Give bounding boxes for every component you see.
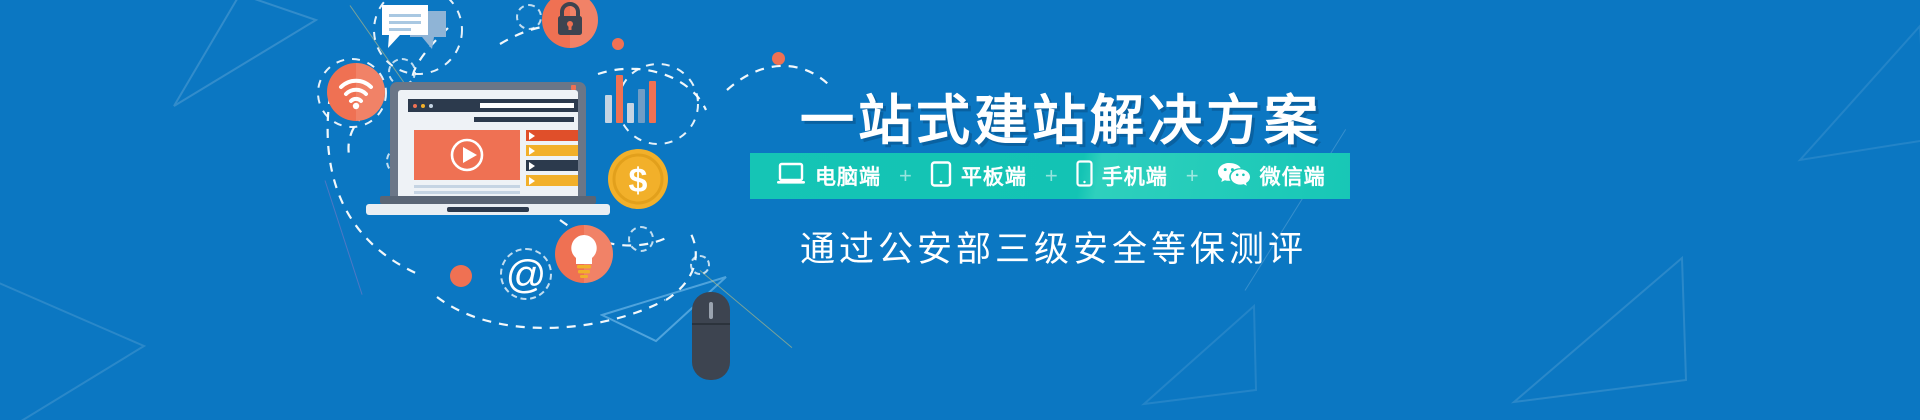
play-triangle-icon — [529, 177, 535, 185]
lock-icon — [542, 0, 598, 48]
plus-separator: + — [887, 163, 924, 189]
page-title: 一站式建站解决方案 — [800, 94, 1322, 148]
laptop-base — [366, 204, 610, 215]
play-button-icon[interactable] — [414, 130, 520, 180]
window-dot — [413, 104, 417, 108]
play-triangle-icon — [529, 162, 535, 170]
browser-chrome — [408, 99, 578, 112]
address-bar — [480, 103, 574, 108]
mouse-icon — [688, 290, 734, 387]
wifi-icon — [327, 63, 385, 121]
camera-indicator-icon — [571, 85, 576, 90]
plus-separator: + — [1033, 163, 1070, 189]
laptop-icon — [390, 82, 586, 215]
device-support-badge: 电脑端 + 平板端 + — [750, 153, 1350, 199]
at-sign-icon: @ — [503, 250, 549, 301]
banner-content: 一站式建站解决方案 电脑端 + — [760, 0, 1920, 420]
device-label-mobile: 手机端 — [1102, 161, 1168, 191]
laptop-hinge — [380, 196, 596, 204]
window-dot — [429, 104, 433, 108]
plus-separator: + — [1174, 163, 1211, 189]
device-label-pc: 电脑端 — [815, 161, 881, 191]
device-label-tablet: 平板端 — [961, 161, 1027, 191]
tablet-icon — [930, 161, 952, 192]
wechat-icon — [1217, 161, 1251, 192]
play-triangle-icon — [529, 147, 535, 155]
bar-chart-icon — [605, 73, 656, 123]
laptop-icon — [776, 162, 806, 191]
device-item-mobile[interactable]: 手机端 — [1070, 160, 1174, 192]
laptop-screen — [398, 90, 578, 204]
text-line — [414, 191, 520, 194]
promo-banner: $ @ — [0, 0, 1920, 420]
device-item-tablet[interactable]: 平板端 — [924, 161, 1033, 192]
svg-text:$: $ — [629, 162, 648, 200]
svg-text:@: @ — [506, 253, 547, 296]
device-item-wechat[interactable]: 微信端 — [1211, 161, 1332, 192]
chat-bubbles-icon — [380, 5, 448, 62]
device-item-pc[interactable]: 电脑端 — [770, 161, 887, 191]
page-title-bar — [474, 117, 574, 122]
page-subtitle: 通过公安部三级安全等保测评 — [800, 232, 1307, 267]
video-placeholder[interactable] — [414, 130, 520, 180]
website-building-illustration: $ @ — [300, 0, 770, 420]
window-dot — [421, 104, 425, 108]
smartphone-icon — [1076, 160, 1093, 192]
device-label-wechat: 微信端 — [1260, 161, 1326, 191]
lightbulb-icon — [555, 225, 613, 283]
laptop-lid — [390, 82, 586, 204]
text-line — [414, 185, 520, 188]
coin-dollar-icon: $ — [607, 148, 669, 215]
play-triangle-icon — [529, 132, 535, 140]
